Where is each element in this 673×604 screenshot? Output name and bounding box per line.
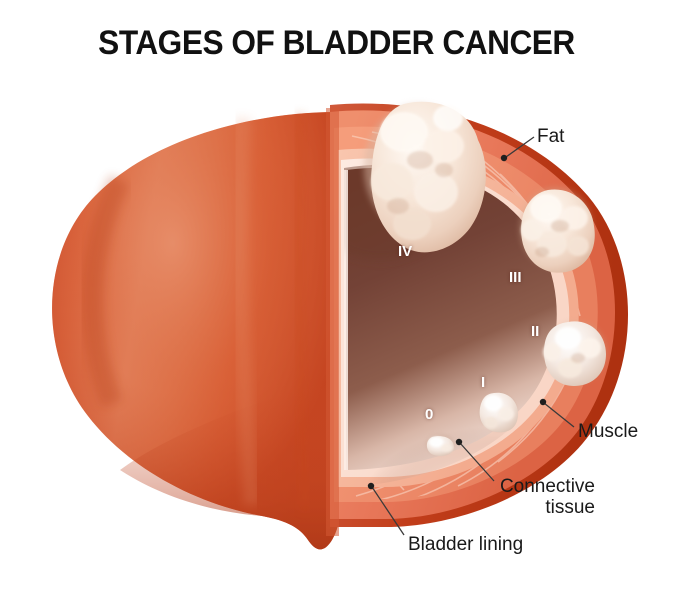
illustration-canvas: STAGES OF BLADDER CANCER <box>0 0 673 604</box>
label-connective-tissue-line1: Connective <box>383 476 595 497</box>
stage-marker-4: IV <box>398 243 412 260</box>
label-bladder-lining: Bladder lining <box>408 534 523 555</box>
leader-dot-bladder-lining <box>368 483 374 489</box>
label-connective-tissue-line2: tissue <box>383 497 595 518</box>
stage-marker-1: I <box>481 374 485 391</box>
leader-dot-connective-tissue <box>456 439 462 445</box>
leader-dot-fat <box>501 155 507 161</box>
leader-dot-muscle <box>540 399 546 405</box>
stage-marker-3: III <box>509 269 522 286</box>
bladder-body <box>52 112 339 549</box>
stage-marker-0: 0 <box>425 406 433 423</box>
label-muscle: Muscle <box>578 421 638 442</box>
tumor-stage-2 <box>543 321 606 386</box>
label-fat: Fat <box>537 126 564 147</box>
stage-marker-2: II <box>531 323 539 340</box>
label-connective-tissue: Connective tissue <box>383 476 595 518</box>
cut-face-edge <box>326 108 339 536</box>
